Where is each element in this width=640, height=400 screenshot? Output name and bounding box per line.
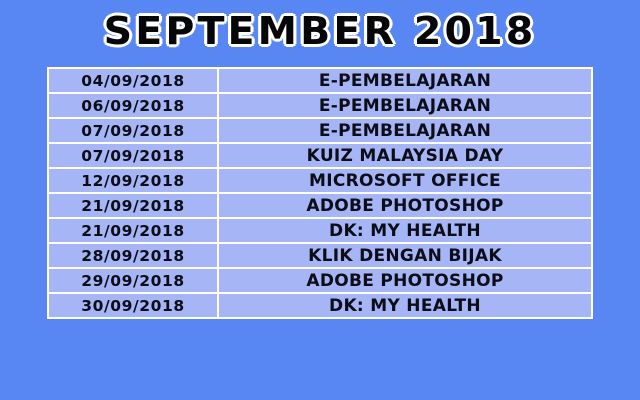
schedule-date-cell: 28/09/2018 [49, 244, 217, 267]
schedule-event-cell: DK: MY HEALTH [219, 219, 591, 242]
table-row: 28/09/2018KLIK DENGAN BIJAK [49, 244, 591, 267]
table-row: 21/09/2018ADOBE PHOTOSHOP [49, 194, 591, 217]
table-row: 21/09/2018DK: MY HEALTH [49, 219, 591, 242]
schedule-date-cell: 04/09/2018 [49, 69, 217, 92]
schedule-event-cell: KLIK DENGAN BIJAK [219, 244, 591, 267]
title-area: SEPTEMBER 2018 [0, 0, 640, 62]
table-row: 07/09/2018E-PEMBELAJARAN [49, 119, 591, 142]
schedule-date-cell: 30/09/2018 [49, 294, 217, 317]
schedule-date-cell: 21/09/2018 [49, 219, 217, 242]
schedule-date-cell: 29/09/2018 [49, 269, 217, 292]
schedule-table: 04/09/2018E-PEMBELAJARAN06/09/2018E-PEMB… [47, 67, 593, 319]
schedule-date-cell: 07/09/2018 [49, 144, 217, 167]
table-row: 06/09/2018E-PEMBELAJARAN [49, 94, 591, 117]
schedule-event-cell: ADOBE PHOTOSHOP [219, 194, 591, 217]
schedule-event-cell: ADOBE PHOTOSHOP [219, 269, 591, 292]
table-row: 29/09/2018ADOBE PHOTOSHOP [49, 269, 591, 292]
schedule-event-cell: KUIZ MALAYSIA DAY [219, 144, 591, 167]
table-row: 07/09/2018KUIZ MALAYSIA DAY [49, 144, 591, 167]
page-title: SEPTEMBER 2018 [104, 12, 537, 50]
schedule-event-cell: MICROSOFT OFFICE [219, 169, 591, 192]
table-row: 12/09/2018MICROSOFT OFFICE [49, 169, 591, 192]
schedule-event-cell: DK: MY HEALTH [219, 294, 591, 317]
schedule-event-cell: E-PEMBELAJARAN [219, 69, 591, 92]
schedule-date-cell: 06/09/2018 [49, 94, 217, 117]
schedule-date-cell: 07/09/2018 [49, 119, 217, 142]
schedule-date-cell: 12/09/2018 [49, 169, 217, 192]
schedule-event-cell: E-PEMBELAJARAN [219, 119, 591, 142]
table-row: 04/09/2018E-PEMBELAJARAN [49, 69, 591, 92]
table-row: 30/09/2018DK: MY HEALTH [49, 294, 591, 317]
schedule-date-cell: 21/09/2018 [49, 194, 217, 217]
schedule-table-body: 04/09/2018E-PEMBELAJARAN06/09/2018E-PEMB… [49, 69, 591, 317]
calendar-poster: SEPTEMBER 2018 04/09/2018E-PEMBELAJARAN0… [0, 0, 640, 400]
schedule-event-cell: E-PEMBELAJARAN [219, 94, 591, 117]
